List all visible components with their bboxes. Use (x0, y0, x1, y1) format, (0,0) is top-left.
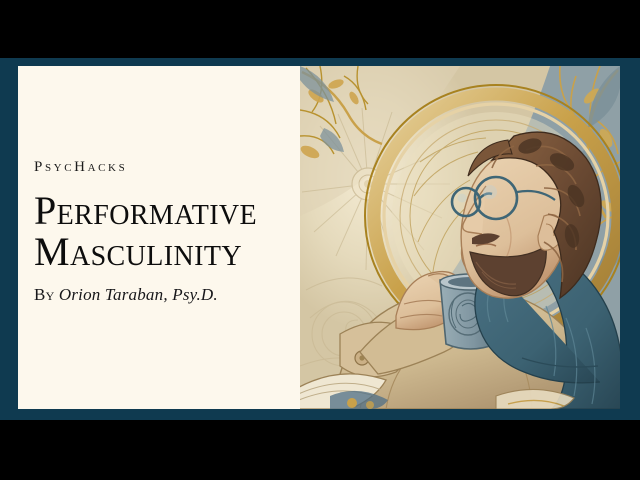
cover-illustration-svg (300, 66, 620, 409)
cover-illustration (300, 66, 620, 409)
channel-kicker: PsycHacks (34, 160, 284, 175)
byline: By Orion Taraban, Psy.D. (34, 286, 284, 303)
letterbox-bar-top (0, 0, 640, 58)
byline-prefix: By (34, 285, 55, 304)
page-title-line-1: Performative (34, 191, 284, 230)
video-thumbnail-frame: PsycHacks Performative Masculinity By Or… (0, 0, 640, 480)
thumbnail-card-inner: PsycHacks Performative Masculinity By Or… (18, 66, 620, 409)
thumbnail-card: PsycHacks Performative Masculinity By Or… (0, 58, 640, 420)
byline-author: Orion Taraban, Psy.D. (59, 285, 218, 304)
title-text-panel: PsycHacks Performative Masculinity By Or… (18, 66, 300, 409)
title-text-stack: PsycHacks Performative Masculinity By Or… (34, 160, 284, 303)
page-title-line-2: Masculinity (34, 232, 284, 271)
letterbox-bar-bottom (0, 420, 640, 480)
